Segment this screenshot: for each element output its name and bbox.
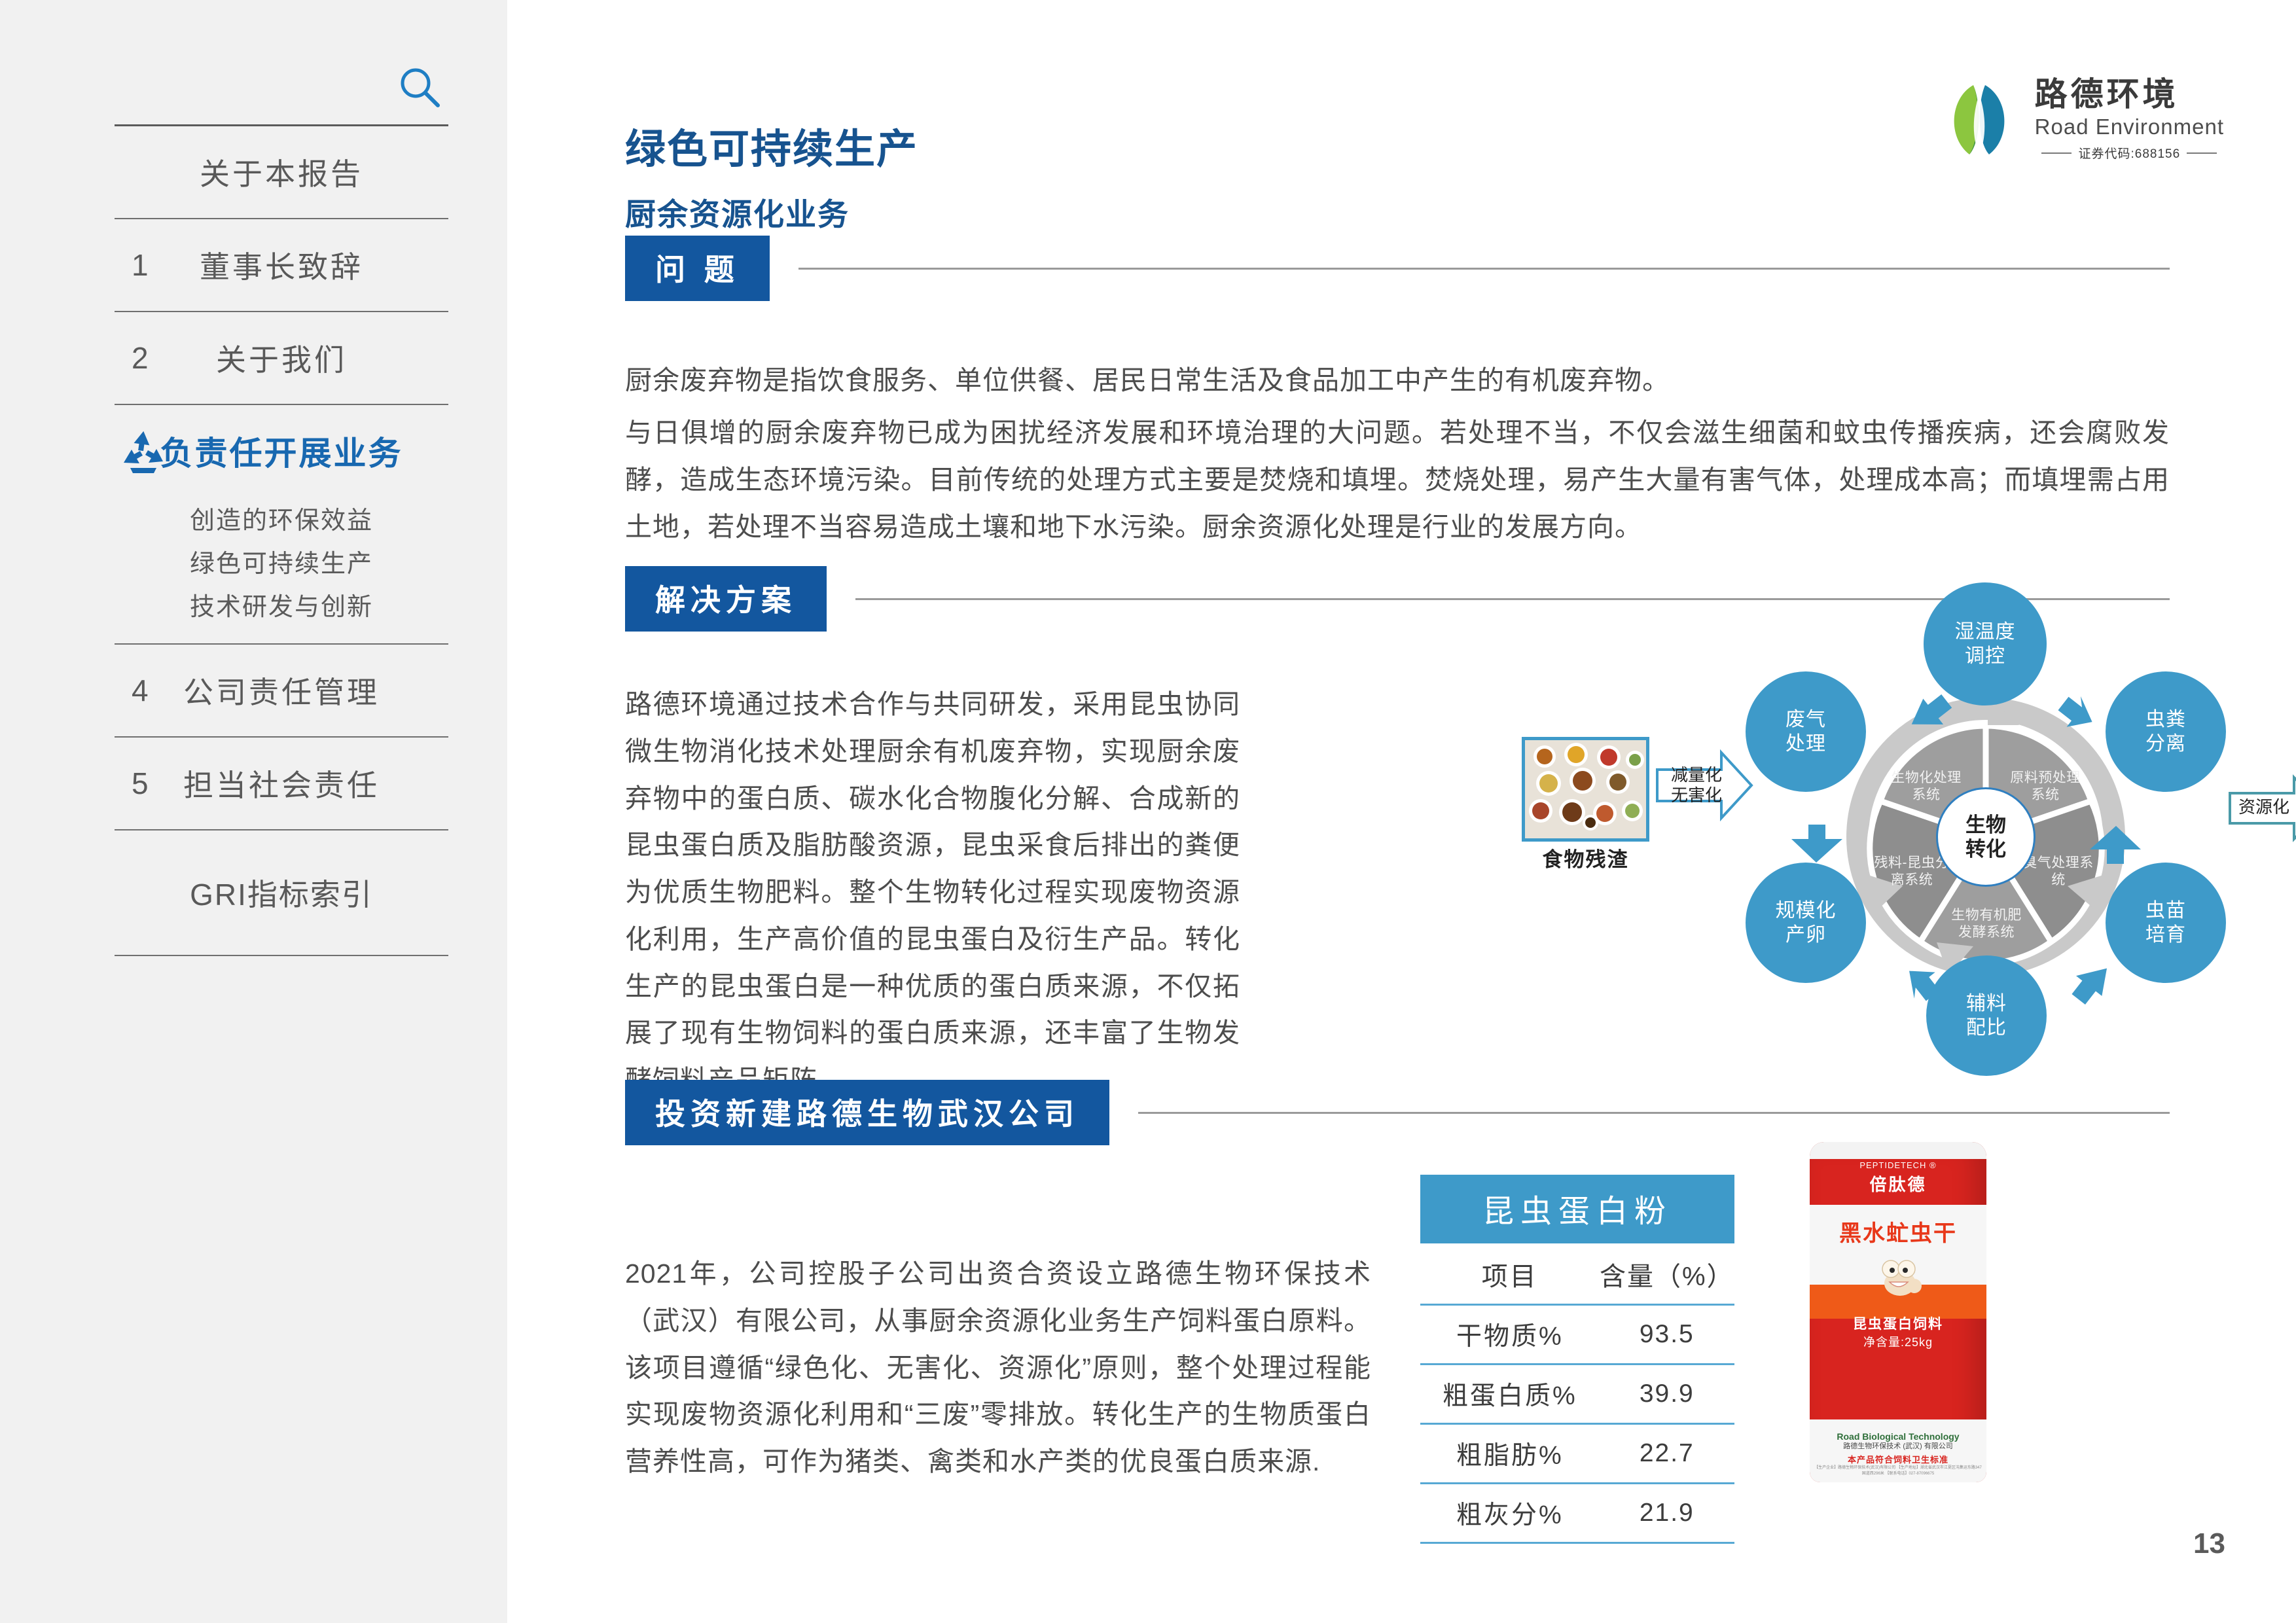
bioconversion-diagram: 食物残渣 减量化 无害化 (1718, 582, 2294, 1080)
solution-paragraph: 路德环境通过技术合作与共同研发，采用昆虫协同微生物消化技术处理厨余有机废弃物，实… (625, 681, 1240, 1104)
node-humidity-temp-line2: 调控 (1955, 644, 2016, 669)
larva-mascot-icon (1874, 1257, 1922, 1298)
food-waste-photo (1522, 737, 1649, 842)
bag-subtitle: 昆虫蛋白饲料 (1810, 1313, 1986, 1333)
node-waste-gas-line1: 废气 (1785, 707, 1826, 732)
section-badge-problem: 问 题 (625, 236, 770, 301)
sidebar-item-about-report[interactable]: 关于本报告 (115, 126, 448, 218)
sidebar-item-responsible-business[interactable]: 负责任开展业务 (115, 405, 448, 497)
output-arrow-label: 资源化 (2233, 787, 2295, 829)
node-waste-gas: 废气 处理 (1746, 671, 1866, 792)
table-cell-item: 粗脂肪% (1420, 1424, 1600, 1484)
node-additive-ratio: 辅料 配比 (1926, 955, 2047, 1076)
page-title: 绿色可持续生产 (625, 116, 918, 175)
search-row[interactable] (115, 62, 448, 124)
bag-brand-cn: 倍肽德 (1810, 1171, 1986, 1196)
hub-center-line2: 转化 (1965, 837, 2006, 861)
problem-paragraph-1: 厨余废弃物是指饮食服务、单位供餐、居民日常生活及食品加工中产生的有机废弃物。 (625, 357, 2163, 404)
table-row: 粗灰分% 21.9 (1420, 1484, 1734, 1543)
table-column-header-value: 含量（%） (1600, 1243, 1734, 1305)
node-humidity-temp: 湿温度 调控 (1924, 582, 2047, 705)
hub-center-line1: 生物 (1965, 813, 2006, 837)
sidebar-item-label: 董事长致辞 (200, 243, 363, 287)
table-body: 项目 含量（%） 干物质% 93.5 粗蛋白质% 39.9 粗脂肪% 22.7 … (1420, 1243, 1734, 1544)
sidebar-item-label: 关于我们 (216, 336, 347, 380)
section-rule (1138, 1112, 2170, 1114)
node-additive-ratio-line2: 配比 (1966, 1016, 2007, 1041)
logo-name-en: Road Environment (2035, 114, 2224, 140)
section-header-investment: 投资新建路德生物武汉公司 (625, 1080, 2196, 1145)
node-larvae-rearing-line1: 虫苗 (2145, 899, 2186, 923)
sidebar-item-about-us[interactable]: 2 关于我们 (115, 312, 448, 404)
section-badge-investment: 投资新建路德生物武汉公司 (625, 1080, 1109, 1145)
node-waste-gas-line2: 处理 (1785, 732, 1826, 757)
sidebar-item-number: 4 (132, 673, 149, 708)
table-cell-value: 39.9 (1600, 1364, 1734, 1424)
input-arrow-label-line2: 无害化 (1671, 785, 1722, 806)
sidebar-item-number: 2 (132, 340, 149, 376)
table-header-row: 项目 含量（%） (1420, 1243, 1734, 1305)
sidebar-item-gri-index[interactable]: GRI指标索引 (115, 830, 448, 955)
seg-organic-fertilizer-label: 生物有机肥发酵系统 (1945, 907, 2028, 942)
sidebar-subitem-green-production[interactable]: 绿色可持续生产 (115, 543, 448, 586)
bag-fine-print: 【生产企业】路德生物环保技术(武汉)有限公司 【生产地址】湖北省武汉市江夏区沌集… (1814, 1464, 1982, 1476)
sidebar-item-number: 5 (132, 766, 149, 801)
node-frass-separation-line1: 虫粪 (2145, 707, 2186, 732)
section-rule (798, 268, 2170, 270)
bag-product-title: 黑水虻虫干 (1810, 1215, 1986, 1247)
report-page: 关于本报告 1 董事长致辞 2 关于我们 负责任开展业务 (0, 0, 2296, 1623)
sidebar-item-label: 关于本报告 (200, 151, 363, 194)
bag-net-weight: 净含量:25kg (1810, 1333, 1986, 1350)
sidebar-item-responsibility-management[interactable]: 4 公司责任管理 (115, 645, 448, 736)
logo-code-rule-right (2187, 152, 2217, 154)
node-humidity-temp-line1: 湿温度 (1955, 620, 2016, 645)
sidebar-item-label: 公司责任管理 (183, 669, 380, 712)
page-number: 13 (2193, 1527, 2225, 1560)
table-title: 昆虫蛋白粉 (1420, 1175, 1734, 1243)
bag-brand-en: PEPTIDETECH ® (1859, 1160, 1936, 1170)
divider (115, 955, 448, 956)
sidebar-sublist: 创造的环保效益 绿色可持续生产 技术研发与创新 (115, 497, 448, 643)
sidebar-item-chairman-message[interactable]: 1 董事长致辞 (115, 219, 448, 311)
table-row: 粗脂肪% 22.7 (1420, 1424, 1734, 1484)
bag-brand: PEPTIDETECH ® 倍肽德 (1810, 1160, 1986, 1196)
table-cell-value: 21.9 (1600, 1484, 1734, 1543)
table-cell-value: 22.7 (1600, 1424, 1734, 1484)
sidebar-item-number: 1 (132, 247, 149, 283)
logo-stock-code: 证券代码:688156 (2078, 144, 2180, 162)
table-cell-item: 粗灰分% (1420, 1484, 1600, 1543)
sidebar-subitem-rd-innovation[interactable]: 技术研发与创新 (115, 586, 448, 629)
product-bag-photo: PEPTIDETECH ® 倍肽德 黑水虻虫干 昆虫蛋白饲料 净含量:25kg … (1810, 1142, 1986, 1482)
node-larvae-rearing-line2: 培育 (2145, 923, 2186, 948)
logo-code-rule-left (2041, 152, 2072, 154)
node-scaled-oviposition: 规模化 产卵 (1746, 863, 1866, 983)
section-header-problem: 问 题 (625, 236, 2196, 301)
bag-body: PEPTIDETECH ® 倍肽德 黑水虻虫干 昆虫蛋白饲料 净含量:25kg … (1810, 1142, 1986, 1482)
table-cell-item: 干物质% (1420, 1305, 1600, 1364)
insect-protein-table: 昆虫蛋白粉 项目 含量（%） 干物质% 93.5 粗蛋白质% 39.9 粗脂肪%… (1420, 1175, 1734, 1544)
leaf-logo-icon (1941, 81, 2018, 158)
problem-paragraph-2: 与日俱增的厨余废弃物已成为困扰经济发展和环境治理的大问题。若处理不当，不仅会滋生… (625, 410, 2170, 550)
sidebar-item-social-responsibility[interactable]: 5 担当社会责任 (115, 738, 448, 829)
recycle-icon (120, 429, 167, 473)
sidebar-item-label: GRI指标索引 (190, 871, 373, 914)
main-content: 路德环境 Road Environment 证券代码:688156 绿色可持续生… (507, 0, 2296, 1623)
table-cell-value: 93.5 (1600, 1305, 1734, 1364)
section-badge-solution: 解决方案 (625, 566, 827, 632)
search-icon[interactable] (396, 65, 443, 112)
page-subtitle: 厨余资源化业务 (625, 189, 850, 234)
investment-paragraph: 2021年，公司控股子公司出资合资设立路德生物环保技术（武汉）有限公司，从事厨余… (625, 1251, 1371, 1486)
table-row: 粗蛋白质% 39.9 (1420, 1364, 1734, 1424)
sidebar: 关于本报告 1 董事长致辞 2 关于我们 负责任开展业务 (0, 0, 507, 1623)
hub-center-label: 生物 转化 (1936, 787, 2036, 887)
node-frass-separation-line2: 分离 (2145, 732, 2186, 757)
input-arrow-label-line1: 减量化 (1671, 765, 1722, 785)
input-caption: 食物残渣 (1522, 843, 1649, 872)
table-row: 干物质% 93.5 (1420, 1305, 1734, 1364)
sidebar-item-label: 负责任开展业务 (160, 427, 403, 474)
bag-top-seal (1810, 1142, 1986, 1159)
bag-company-cn: 路德生物环保技术 (武汉) 有限公司 (1810, 1440, 1986, 1451)
sidebar-item-label: 担当社会责任 (183, 762, 380, 805)
company-logo: 路德环境 Road Environment 证券代码:688156 (1941, 77, 2224, 162)
node-larvae-rearing: 虫苗 培育 (2106, 863, 2226, 983)
logo-stock-code-row: 证券代码:688156 (2035, 144, 2224, 162)
node-frass-separation: 虫粪 分离 (2106, 671, 2226, 792)
logo-name-cn: 路德环境 (2035, 77, 2224, 112)
table-column-header-item: 项目 (1420, 1243, 1600, 1305)
node-additive-ratio-line1: 辅料 (1966, 991, 2007, 1016)
table-cell-item: 粗蛋白质% (1420, 1364, 1600, 1424)
sidebar-subitem-env-benefits[interactable]: 创造的环保效益 (115, 499, 448, 543)
node-scaled-oviposition-line1: 规模化 (1776, 899, 1837, 923)
node-scaled-oviposition-line2: 产卵 (1776, 923, 1837, 948)
